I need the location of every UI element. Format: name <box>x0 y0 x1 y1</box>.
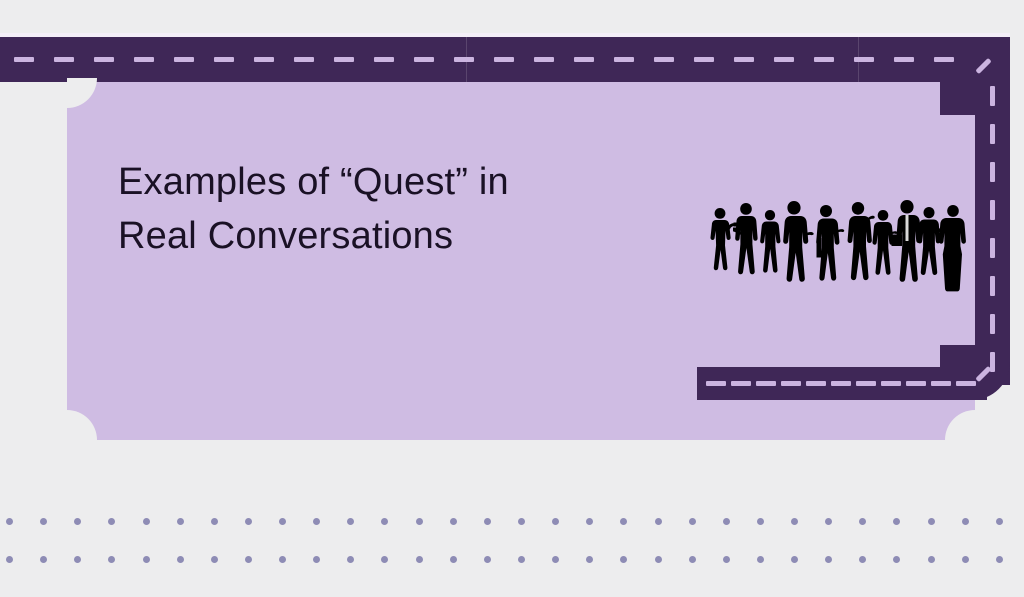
decorative-dot <box>211 518 218 525</box>
decorative-dot <box>689 518 696 525</box>
decorative-dot <box>245 556 252 563</box>
road-dash <box>254 57 274 62</box>
decorative-dot <box>313 518 320 525</box>
road-dash <box>956 381 976 386</box>
decorative-dot <box>723 556 730 563</box>
road-dash <box>334 57 354 62</box>
decorative-dot <box>962 518 969 525</box>
road-dash <box>990 238 995 258</box>
road-dash <box>614 57 634 62</box>
decorative-dot <box>108 556 115 563</box>
road-dash <box>734 57 754 62</box>
decorative-dot <box>689 556 696 563</box>
decorative-dot <box>655 518 662 525</box>
road-dash <box>534 57 554 62</box>
road-dash <box>934 57 954 62</box>
decorative-dot <box>40 518 47 525</box>
decorative-dot <box>620 518 627 525</box>
decorative-dot <box>211 556 218 563</box>
decorative-dot <box>962 556 969 563</box>
road-dash <box>990 86 995 106</box>
dot-grid-decoration <box>0 518 1024 578</box>
road-dash <box>990 124 995 144</box>
decorative-dot <box>620 556 627 563</box>
decorative-dot <box>996 556 1003 563</box>
decorative-dot <box>928 556 935 563</box>
decorative-dot <box>450 556 457 563</box>
decorative-dot <box>586 518 593 525</box>
decorative-dot <box>723 518 730 525</box>
decorative-dot <box>552 518 559 525</box>
road-dash <box>990 276 995 296</box>
decorative-dot <box>791 518 798 525</box>
road-dash <box>781 381 801 386</box>
decorative-dot <box>279 556 286 563</box>
road-dash <box>414 57 434 62</box>
road-dash <box>174 57 194 62</box>
road-dash <box>931 381 951 386</box>
decorative-dot <box>859 518 866 525</box>
road-dash <box>831 381 851 386</box>
decorative-dot <box>279 518 286 525</box>
decorative-dot <box>757 518 764 525</box>
decorative-dot <box>177 556 184 563</box>
road-dash <box>774 57 794 62</box>
road-dash <box>494 57 514 62</box>
decorative-dot <box>381 518 388 525</box>
decorative-dot <box>484 556 491 563</box>
decorative-dot <box>6 556 13 563</box>
road-dash <box>134 57 154 62</box>
decorative-dot <box>484 518 491 525</box>
decorative-dot <box>586 556 593 563</box>
decorative-dot <box>6 518 13 525</box>
decorative-dot <box>74 518 81 525</box>
road-dash <box>814 57 834 62</box>
road-dash <box>906 381 926 386</box>
decorative-dot <box>40 556 47 563</box>
road-dash <box>990 162 995 182</box>
road-dash <box>654 57 674 62</box>
decorative-dot <box>893 556 900 563</box>
decorative-dot <box>416 518 423 525</box>
decorative-dot <box>518 556 525 563</box>
decorative-dot <box>108 518 115 525</box>
road-dash <box>214 57 234 62</box>
road-dash <box>294 57 314 62</box>
road-dash <box>806 381 826 386</box>
decorative-dot <box>996 518 1003 525</box>
road-dash <box>881 381 901 386</box>
road-dash <box>990 314 995 334</box>
decorative-dot <box>825 518 832 525</box>
road-dash <box>894 57 914 62</box>
road-dash <box>454 57 474 62</box>
road-dash <box>54 57 74 62</box>
decorative-dot <box>791 556 798 563</box>
decorative-dot <box>655 556 662 563</box>
decorative-dot <box>381 556 388 563</box>
decorative-dot <box>347 556 354 563</box>
road-dash <box>854 57 874 62</box>
decorative-dot <box>74 556 81 563</box>
slide-canvas: Examples of “Quest” in Real Conversation… <box>0 0 1024 597</box>
decorative-dot <box>143 518 150 525</box>
decorative-dot <box>825 556 832 563</box>
decorative-dot <box>245 518 252 525</box>
decorative-dot <box>313 556 320 563</box>
decorative-dot <box>859 556 866 563</box>
road-dash <box>990 200 995 220</box>
page-title: Examples of “Quest” in Real Conversation… <box>118 155 678 263</box>
road-dash <box>374 57 394 62</box>
road-dash <box>14 57 34 62</box>
business-people-silhouettes-icon <box>702 186 970 298</box>
road-dash <box>694 57 714 62</box>
road-dash <box>94 57 114 62</box>
decorative-dot <box>347 518 354 525</box>
road-dash <box>574 57 594 62</box>
road-dash <box>756 381 776 386</box>
decorative-dot <box>416 556 423 563</box>
road-dash <box>706 381 726 386</box>
decorative-dot <box>177 518 184 525</box>
decorative-dot <box>928 518 935 525</box>
decorative-dot <box>143 556 150 563</box>
road-dash <box>856 381 876 386</box>
decorative-dot <box>450 518 457 525</box>
decorative-dot <box>757 556 764 563</box>
decorative-dot <box>518 518 525 525</box>
decorative-dot <box>893 518 900 525</box>
decorative-dot <box>552 556 559 563</box>
road-dash <box>731 381 751 386</box>
